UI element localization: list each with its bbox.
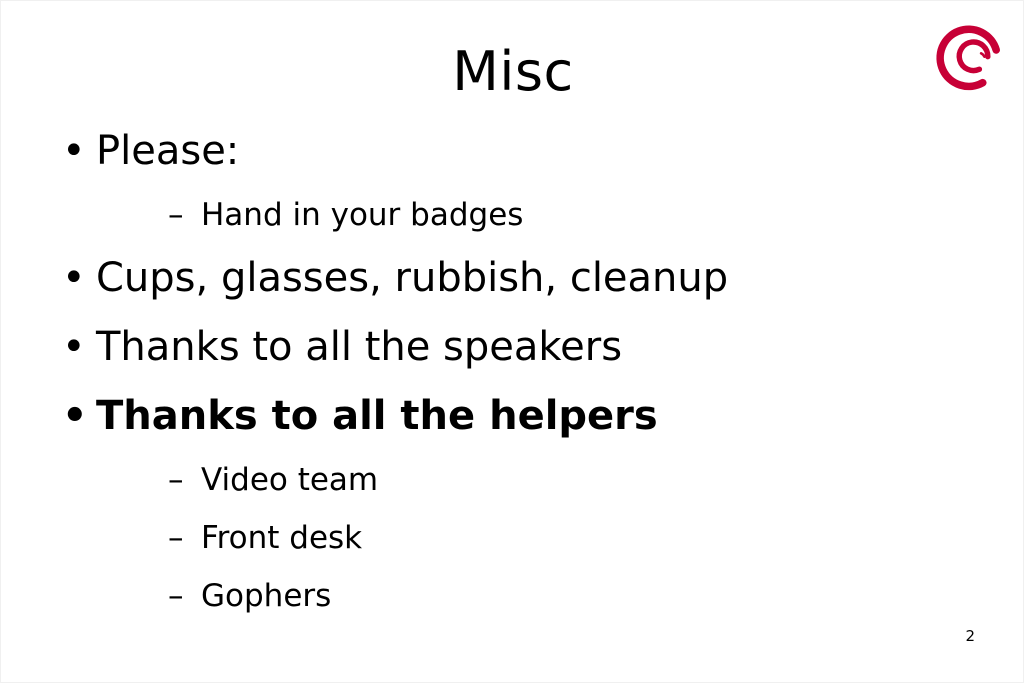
bullet-dash-icon: – bbox=[168, 451, 184, 509]
bullet-dot-icon: • bbox=[62, 313, 86, 382]
list-item: •Cups, glasses, rubbish, cleanup bbox=[1, 244, 1024, 313]
bullet-dash-icon: – bbox=[168, 567, 184, 625]
list-item: •Thanks to all the speakers bbox=[1, 313, 1024, 382]
bullet-dot-icon: • bbox=[62, 117, 86, 186]
bullet-dash-icon: – bbox=[168, 509, 184, 567]
list-item: –Front desk bbox=[1, 509, 1024, 567]
list-item-label: Front desk bbox=[201, 520, 362, 556]
list-item: –Video team bbox=[1, 451, 1024, 509]
list-item-label: Video team bbox=[201, 462, 378, 498]
list-item-label: Gophers bbox=[201, 578, 331, 614]
list-item: •Please: bbox=[1, 117, 1024, 186]
bullet-dot-icon: • bbox=[62, 244, 86, 313]
list-item: •Thanks to all the helpers bbox=[1, 382, 1024, 451]
page-title: Misc bbox=[1, 45, 1024, 99]
bullet-dot-icon: • bbox=[62, 382, 88, 451]
debian-swirl-logo bbox=[929, 13, 1013, 97]
presentation-slide: Misc •Please:–Hand in your badges•Cups, … bbox=[0, 0, 1024, 683]
bullet-dash-icon: – bbox=[168, 186, 184, 244]
list-item-label: Thanks to all the speakers bbox=[96, 324, 622, 370]
list-item: –Hand in your badges bbox=[1, 186, 1024, 244]
list-item-label: Cups, glasses, rubbish, cleanup bbox=[96, 255, 728, 301]
slide-content-list: •Please:–Hand in your badges•Cups, glass… bbox=[1, 117, 1024, 625]
list-item-label: Thanks to all the helpers bbox=[96, 393, 658, 439]
list-item: –Gophers bbox=[1, 567, 1024, 625]
page-number: 2 bbox=[965, 629, 975, 644]
list-item-label: Please: bbox=[96, 128, 239, 174]
list-item-label: Hand in your badges bbox=[201, 197, 523, 233]
